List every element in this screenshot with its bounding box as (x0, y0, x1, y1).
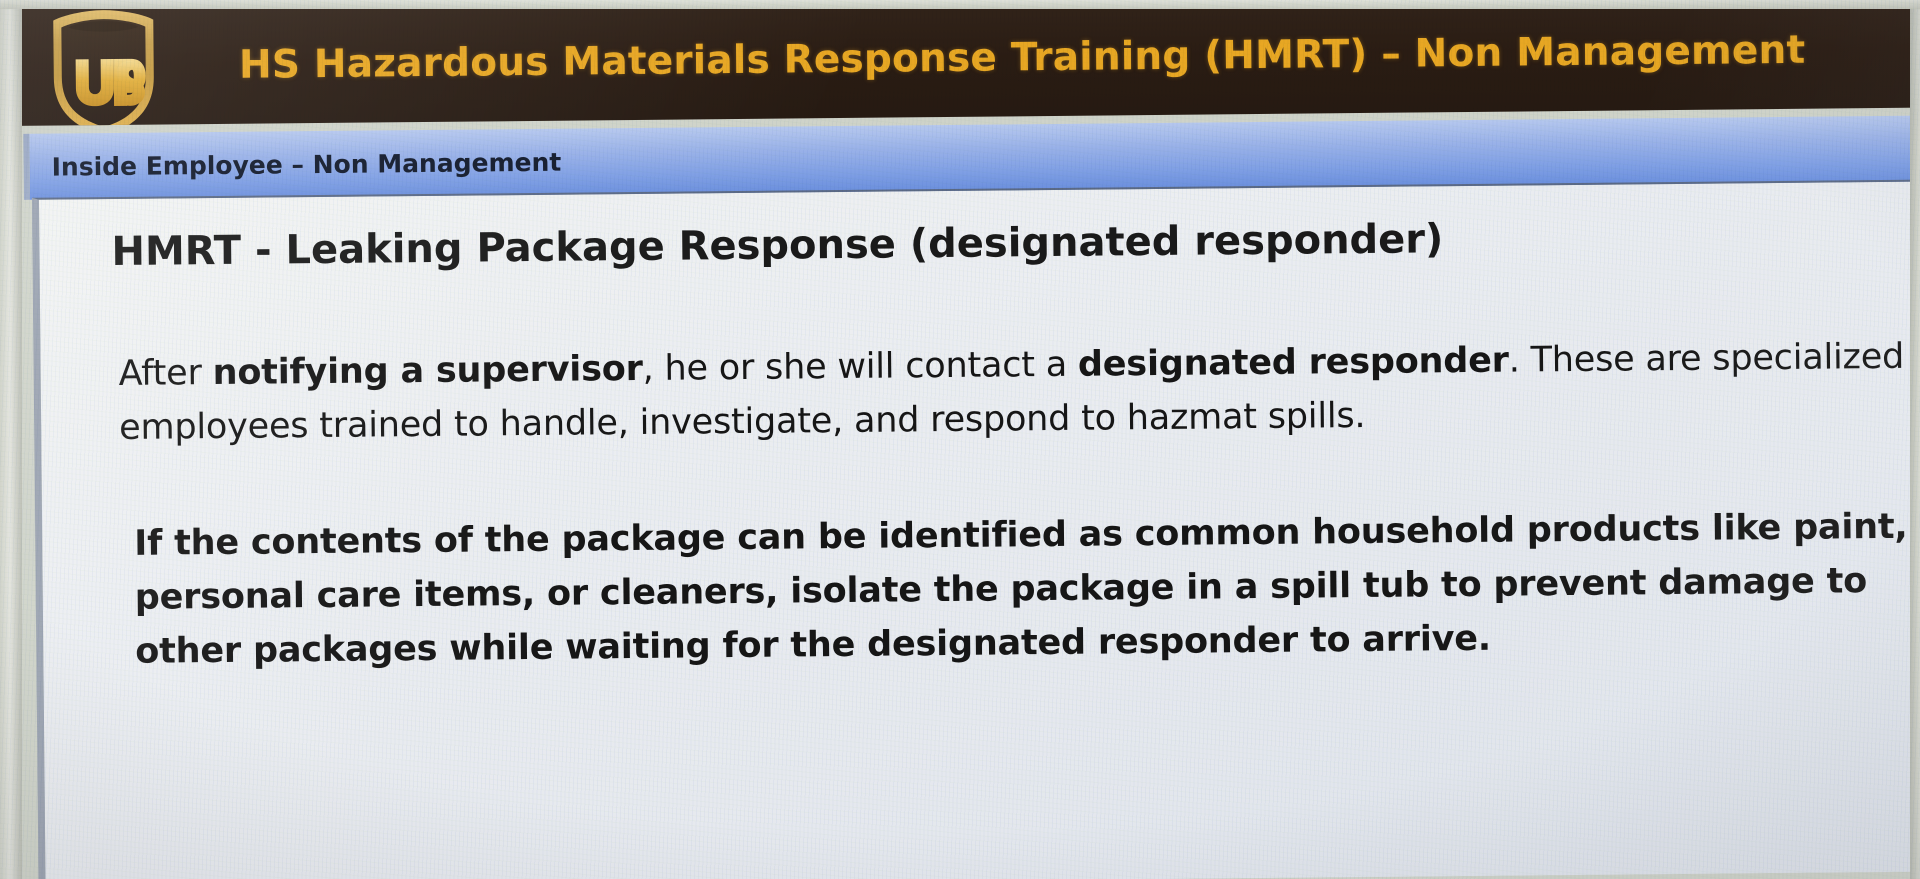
monitor-bezel-left (0, 0, 22, 879)
page-title: HS Hazardous Materials Response Training… (162, 26, 1920, 88)
slide-content: HMRT - Leaking Package Response (designa… (32, 179, 1920, 879)
monitor-bezel-right (1910, 0, 1920, 879)
slide-header-bar: ™ HS Hazardous Materials Response Traini… (16, 0, 1920, 126)
audience-banner-label: Inside Employee – Non Management (30, 147, 562, 181)
slide-heading: HMRT - Leaking Package Response (designa… (111, 216, 1443, 275)
screen-photograph: ™ HS Hazardous Materials Response Traini… (0, 0, 1920, 879)
designated-responder-paragraph: After notifying a supervisor, he or she … (118, 330, 1919, 455)
presentation-slide: ™ HS Hazardous Materials Response Traini… (8, 0, 1920, 879)
monitor-bezel-top (0, 0, 1920, 9)
household-products-paragraph: If the contents of the package can be id… (134, 500, 1920, 679)
ups-logo: ™ (44, 7, 163, 126)
